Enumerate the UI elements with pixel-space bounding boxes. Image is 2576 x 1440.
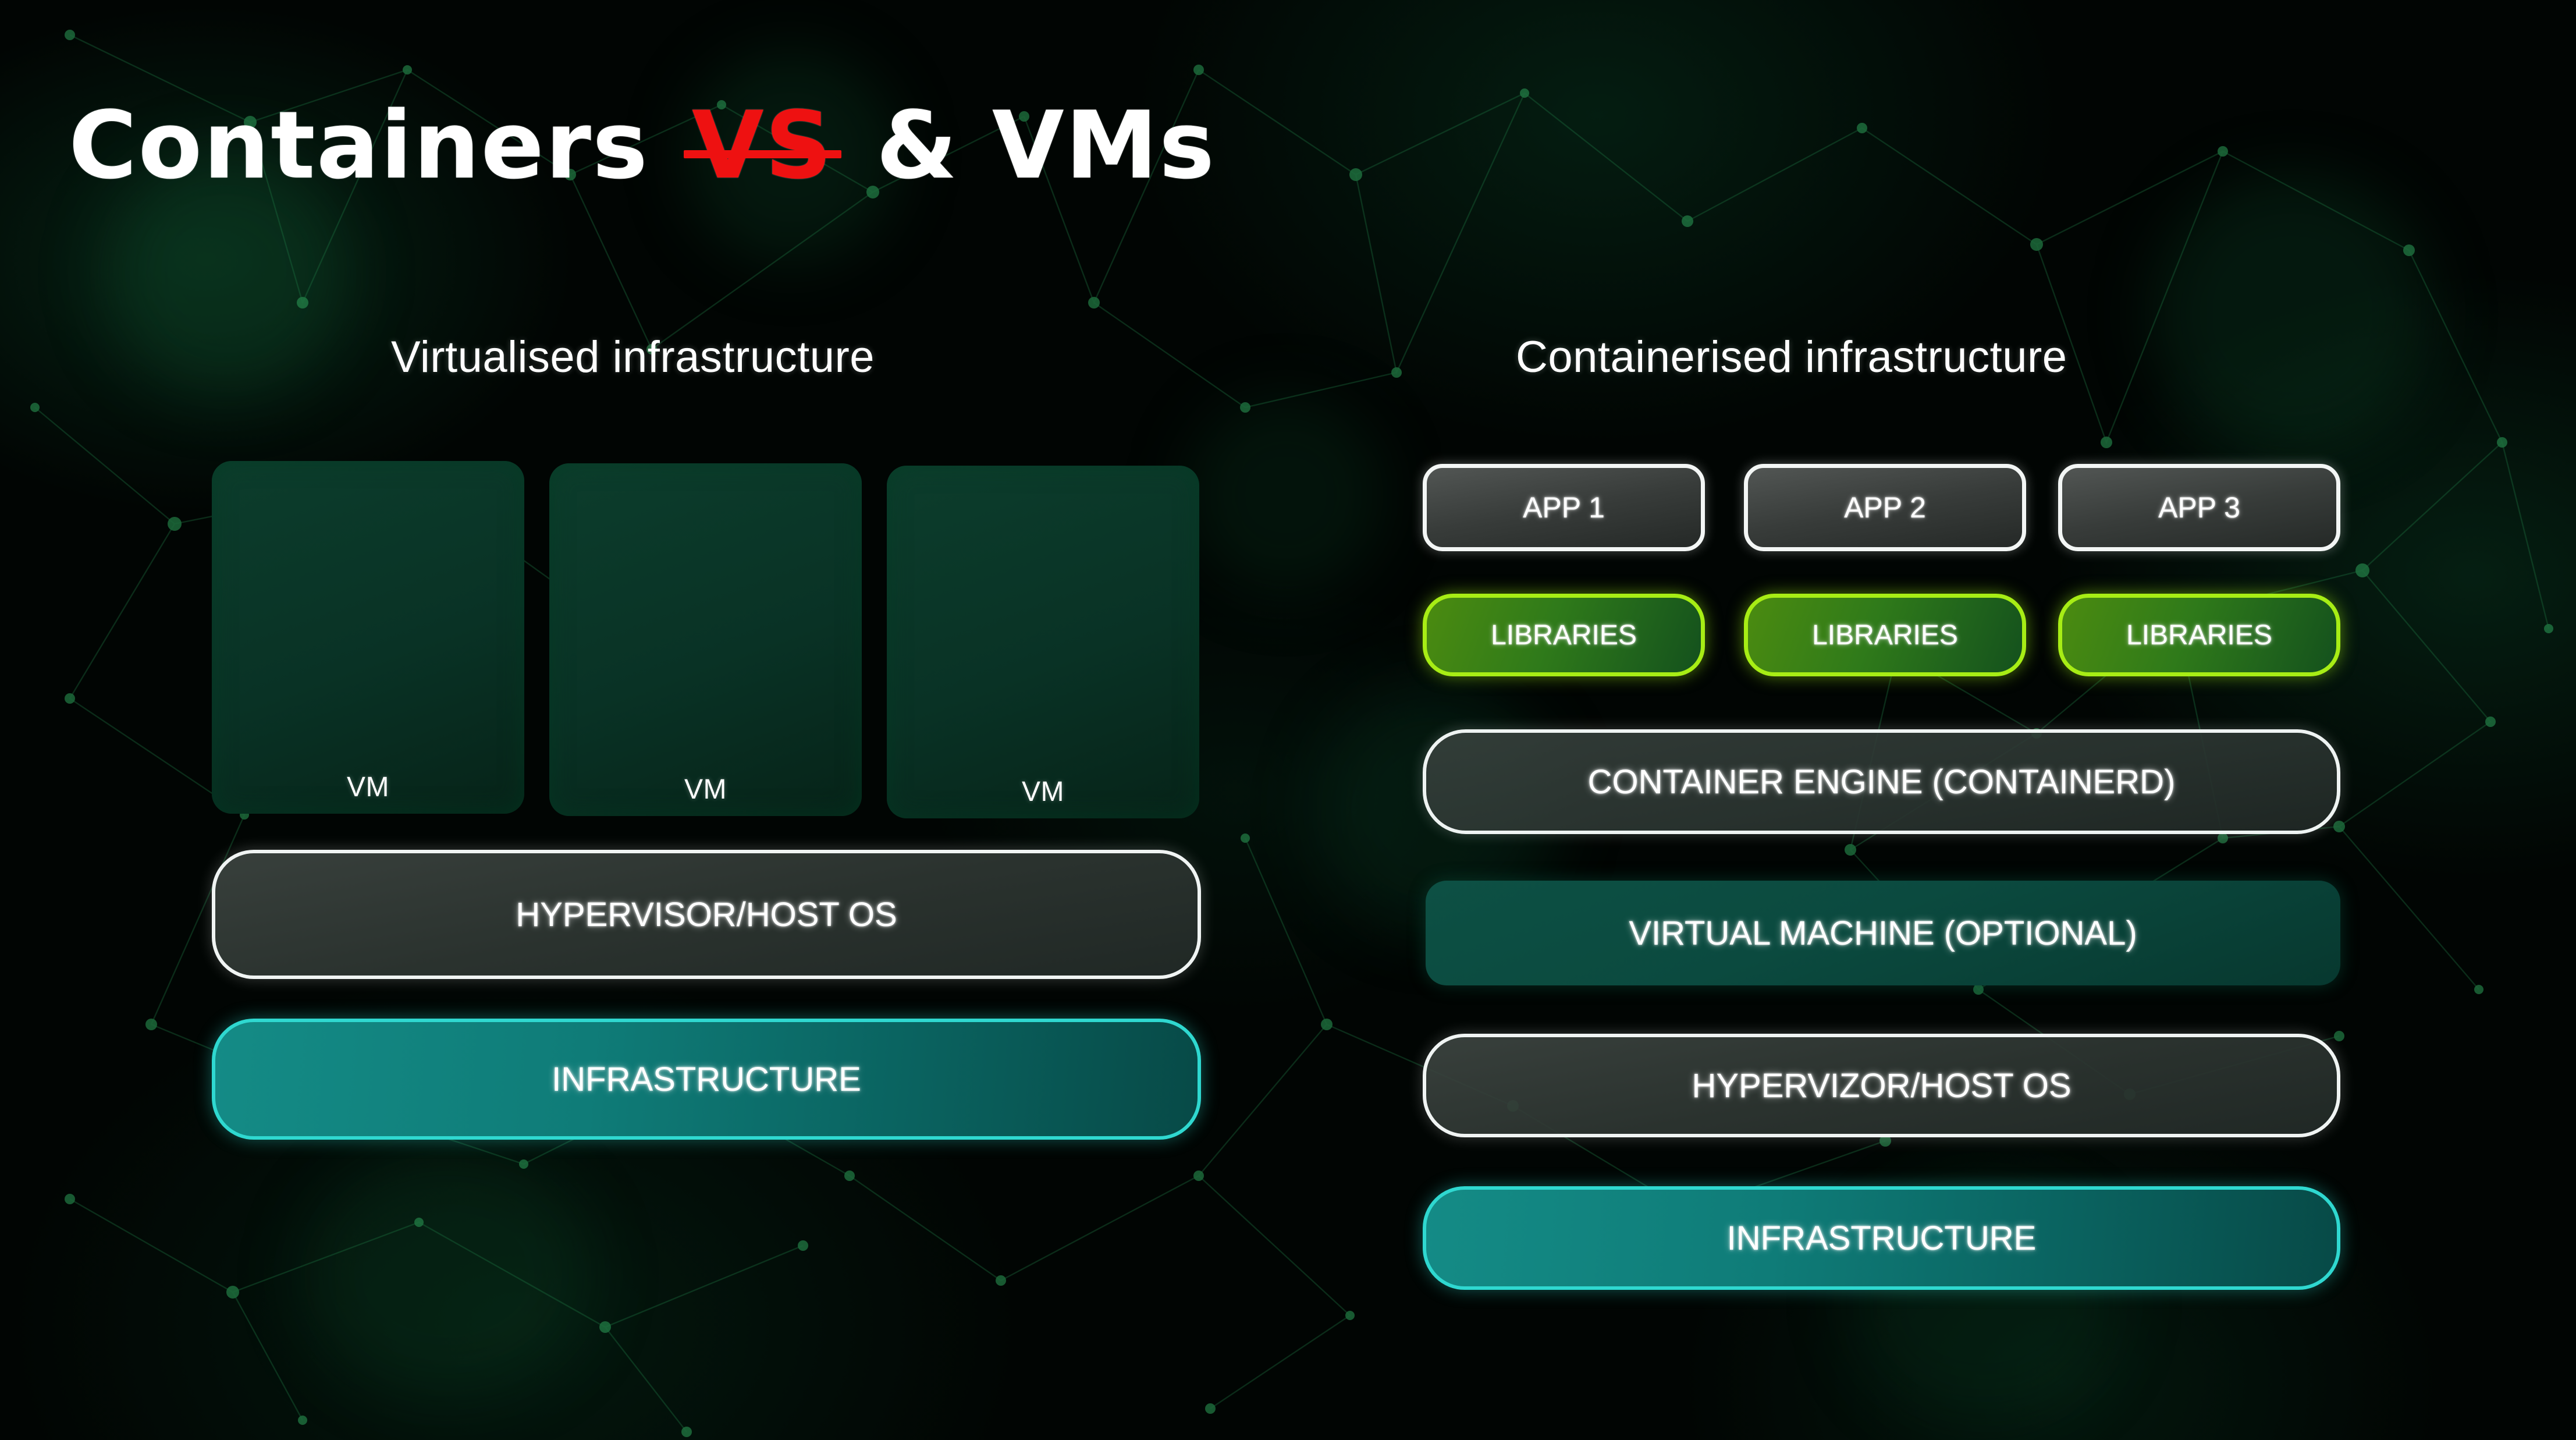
left-column-heading: Virtualised infrastructure — [391, 332, 875, 382]
app-chip[interactable]: APP 1 — [1423, 464, 1705, 551]
hypervizor-host-os-bar[interactable]: HYPERVIZOR/HOST OS — [1423, 1034, 2340, 1137]
app-chip-label: APP 1 — [1523, 491, 1605, 524]
container-engine-bar[interactable]: CONTAINER ENGINE (CONTAINERD) — [1423, 729, 2340, 834]
app-chip[interactable]: APP 3 — [2058, 464, 2340, 551]
right-column-heading: Containerised infrastructure — [1516, 332, 2067, 382]
vm-panel: VM — [212, 461, 524, 814]
infrastructure-label: INFRASTRUCTURE — [552, 1060, 861, 1099]
libraries-chip[interactable]: LIBRARIES — [2058, 594, 2340, 676]
title-word-vms: VMs — [992, 99, 1216, 192]
virtual-machine-optional-label: VIRTUAL MACHINE (OPTIONAL) — [1629, 914, 2137, 953]
strikethrough-line — [684, 150, 841, 158]
page-title: Containers VS & VMs — [69, 99, 1216, 192]
infrastructure-bar[interactable]: INFRASTRUCTURE — [1423, 1186, 2340, 1290]
container-engine-label: CONTAINER ENGINE (CONTAINERD) — [1588, 762, 2176, 801]
vm-panel-label: VM — [212, 771, 524, 803]
libraries-chip[interactable]: LIBRARIES — [1423, 594, 1705, 676]
hypervisor-host-os-label: HYPERVISOR/HOST OS — [516, 895, 897, 934]
vm-panel: VM — [549, 463, 862, 816]
vm-panel: VM — [887, 466, 1199, 818]
libraries-chip-label: LIBRARIES — [2126, 619, 2272, 651]
libraries-chip[interactable]: LIBRARIES — [1744, 594, 2026, 676]
title-vs-strikethrough: VS — [692, 99, 833, 192]
title-ampersand: & — [876, 99, 959, 192]
infrastructure-bar[interactable]: INFRASTRUCTURE — [212, 1019, 1201, 1140]
libraries-chip-label: LIBRARIES — [1491, 619, 1637, 651]
app-chip[interactable]: APP 2 — [1744, 464, 2026, 551]
infrastructure-label: INFRASTRUCTURE — [1727, 1219, 2037, 1258]
hypervizor-host-os-label: HYPERVIZOR/HOST OS — [1692, 1066, 2071, 1105]
virtual-machine-optional-bar[interactable]: VIRTUAL MACHINE (OPTIONAL) — [1426, 881, 2340, 985]
title-word-vs: VS — [692, 99, 833, 192]
app-chip-label: APP 2 — [1844, 491, 1926, 524]
libraries-chip-label: LIBRARIES — [1812, 619, 1958, 651]
vm-panel-label: VM — [549, 774, 862, 806]
title-word-containers: Containers — [69, 99, 649, 192]
hypervisor-host-os-bar[interactable]: HYPERVISOR/HOST OS — [212, 850, 1201, 979]
app-chip-label: APP 3 — [2158, 491, 2240, 524]
vm-panel-label: VM — [887, 776, 1199, 808]
